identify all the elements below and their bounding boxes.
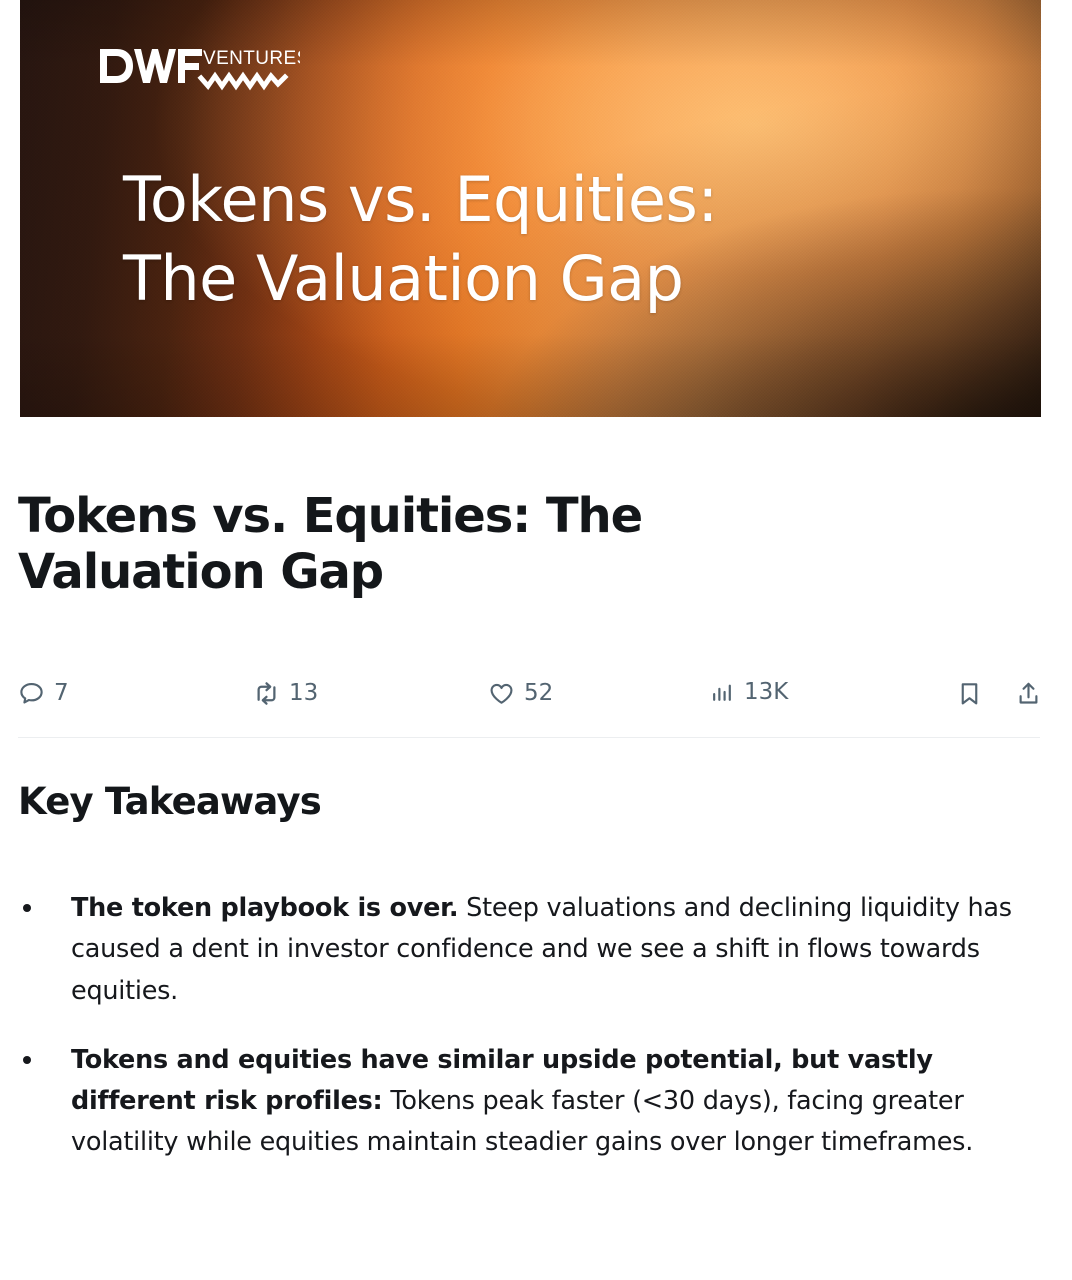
repost-button[interactable]: 13: [253, 680, 318, 707]
hero-title-line-1: Tokens vs. Equities:: [123, 160, 883, 239]
bookmark-icon: [956, 680, 983, 707]
dwf-ventures-logo: VENTURES: [100, 47, 300, 93]
hero-title-line-2: The Valuation Gap: [123, 239, 883, 318]
svg-text:VENTURES: VENTURES: [203, 48, 300, 69]
key-takeaways-list: The token playbook is over. Steep valuat…: [18, 888, 1053, 1192]
repost-icon: [253, 680, 280, 707]
takeaway-lead: The token playbook is over.: [71, 893, 458, 923]
hero-title: Tokens vs. Equities: The Valuation Gap: [123, 160, 883, 319]
bookmark-button[interactable]: [956, 680, 983, 707]
section-divider: [18, 737, 1040, 738]
like-button[interactable]: 52: [488, 680, 553, 707]
views-count: 13K: [744, 681, 788, 704]
share-icon: [1015, 680, 1042, 707]
list-item: Tokens and equities have similar upside …: [18, 1040, 1053, 1164]
like-count: 52: [524, 682, 553, 705]
page-title: Tokens vs. Equities: The Valuation Gap: [18, 488, 798, 600]
share-button[interactable]: [1015, 680, 1042, 707]
reply-icon: [18, 680, 45, 707]
repost-count: 13: [289, 682, 318, 705]
views-button[interactable]: 13K: [710, 680, 788, 705]
views-icon: [710, 680, 735, 705]
article-page: VENTURES Tokens vs. Equities: The Valuat…: [0, 0, 1072, 1280]
reply-button[interactable]: 7: [18, 680, 69, 707]
like-icon: [488, 680, 515, 707]
hero-banner: VENTURES Tokens vs. Equities: The Valuat…: [20, 0, 1041, 417]
list-item: The token playbook is over. Steep valuat…: [18, 888, 1053, 1012]
engagement-bar: 7 13 52: [18, 672, 1038, 722]
reply-count: 7: [54, 682, 69, 705]
section-heading: Key Takeaways: [18, 780, 321, 824]
